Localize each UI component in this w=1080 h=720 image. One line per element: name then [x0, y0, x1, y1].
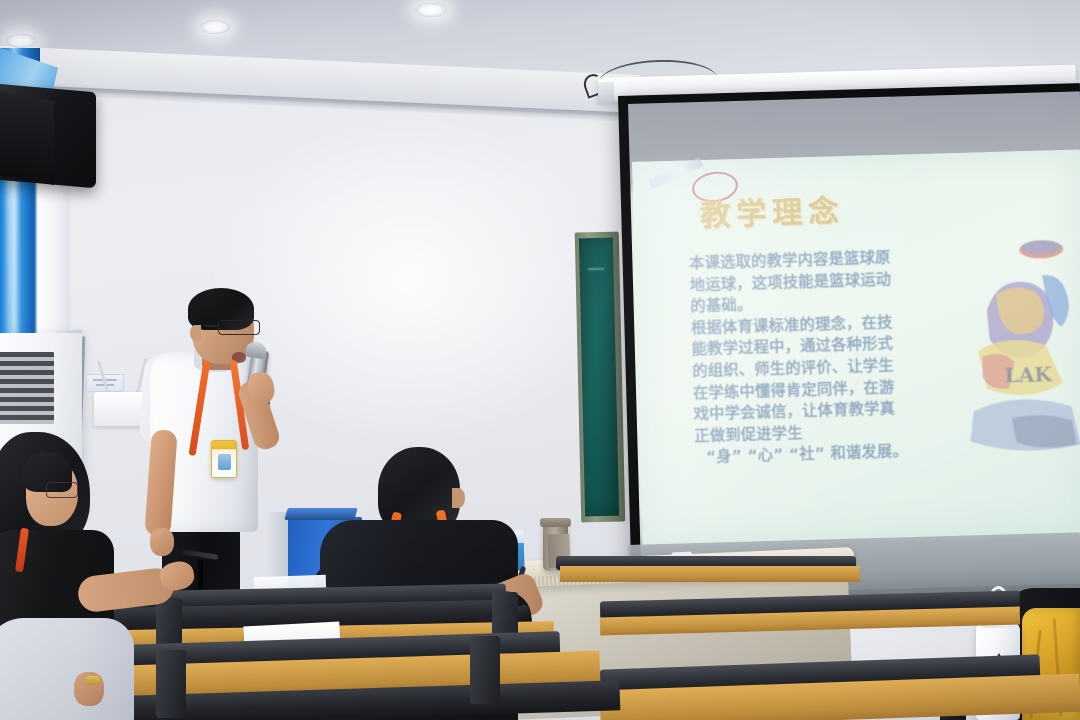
seated-man-ear	[452, 488, 465, 508]
equipment-lid	[284, 508, 357, 520]
screen-housing-endcap	[598, 82, 615, 104]
foreground-person-ring	[86, 676, 100, 685]
presenter-ear	[190, 325, 201, 341]
slide-title: 教学理念	[699, 184, 920, 235]
classroom-photo-scene: 教学理念 本课选取的教学内容是篮球原地运球，这项技能是篮球运动的基础。 根据体育…	[0, 0, 1080, 720]
chalk-mark	[588, 268, 604, 270]
blackboard	[579, 238, 619, 517]
bench-divider-post-front-right	[470, 636, 500, 704]
ceiling-downlight-1	[6, 34, 36, 48]
presenter-id-badge	[211, 440, 237, 478]
presenter-glasses	[218, 320, 260, 335]
seated-woman-glasses	[46, 482, 78, 498]
speaker-front-face	[0, 91, 54, 185]
bench-desktop-back	[560, 566, 860, 582]
slide-basketball-player-image: LAK	[955, 230, 1080, 469]
presenter-left-hand	[150, 528, 174, 556]
air-conditioner-grille	[0, 352, 54, 424]
foreground-person-shoulder	[0, 618, 134, 720]
ceiling-downlight-2	[200, 20, 230, 34]
svg-text:LAK: LAK	[1004, 362, 1052, 387]
slide-body-text: 本课选取的教学内容是篮球原地运球，这项技能是篮球运动的基础。 根据体育课标准的理…	[689, 247, 911, 469]
ceiling-downlight-3	[415, 3, 447, 17]
coffee-cup-lid	[540, 518, 571, 527]
bench-divider-post-front-left	[156, 650, 186, 718]
